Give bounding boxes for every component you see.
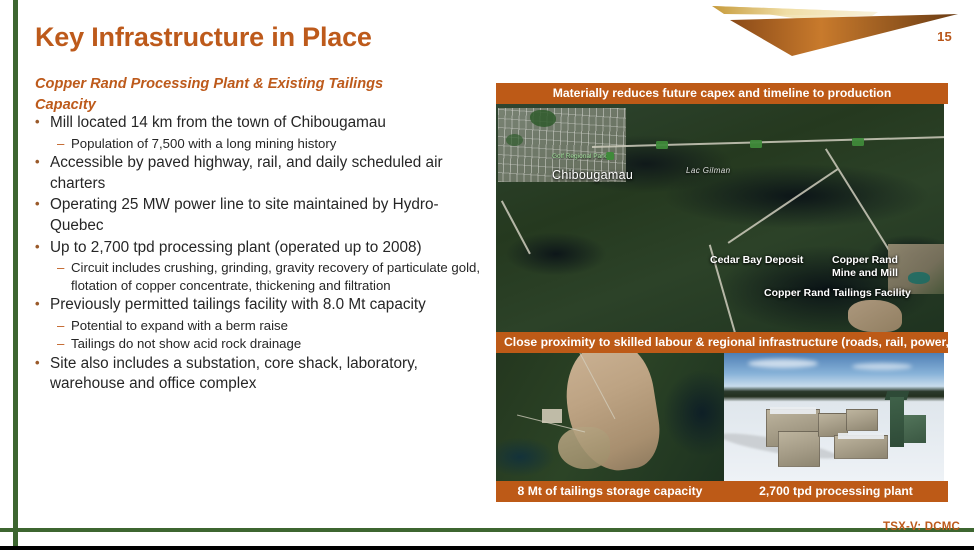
- bullet-text: Operating 25 MW power line to site maint…: [50, 195, 487, 236]
- bullet-marker-icon: •: [35, 354, 50, 373]
- map-mine-pond: [908, 272, 930, 284]
- chevron-icon: [700, 0, 966, 56]
- highway-shield-icon: [750, 140, 762, 148]
- plant-building-front: [778, 431, 820, 467]
- dash-marker-icon: –: [57, 317, 71, 334]
- cloud-shape: [748, 359, 818, 368]
- bullet-marker-icon: •: [35, 295, 50, 314]
- map-label-cedar-bay-deposit: Cedar Bay Deposit: [710, 254, 803, 267]
- ticker-symbol: TSX-V: DCMC: [883, 521, 960, 533]
- plant-conveyor-roof: [838, 433, 884, 439]
- highway-shield-icon: [852, 138, 864, 146]
- bullet-text: Site also includes a substation, core sh…: [50, 354, 487, 395]
- map-road-branch-2: [728, 168, 838, 243]
- dash-marker-icon: –: [57, 259, 71, 276]
- page-subtitle: Copper Rand Processing Plant & Existing …: [35, 74, 435, 115]
- mid-banner-caption: Close proximity to skilled labour & regi…: [496, 332, 948, 353]
- page-title: Key Infrastructure in Place: [35, 22, 372, 53]
- satellite-map: Golf Regional Park Chibougamau Lac Gilma…: [496, 104, 944, 332]
- photo-row: [496, 353, 944, 481]
- bullet-text: Up to 2,700 tpd processing plant (operat…: [50, 238, 487, 259]
- bullet-text: Potential to expand with a berm raise: [71, 317, 487, 334]
- map-tailings-area: [848, 300, 902, 332]
- brand-chevron-logo: [700, 0, 966, 56]
- map-town-green-space: [530, 110, 556, 127]
- bullet-marker-icon: •: [35, 238, 50, 257]
- bottom-edge-bar: [0, 546, 974, 550]
- dash-marker-icon: –: [57, 135, 71, 152]
- bullet-marker-icon: •: [35, 153, 50, 172]
- plant-building-main-roof: [770, 407, 816, 414]
- cloud-shape-2: [852, 363, 912, 370]
- map-town-green-space-2: [506, 134, 523, 146]
- left-accent-line: [13, 0, 18, 546]
- map-road-branch-4: [501, 200, 530, 254]
- map-label-copper-rand-mine-and-mill: Copper Rand Mine and Mill: [832, 254, 898, 280]
- map-label-copper-rand-line1: Copper Rand: [832, 254, 898, 267]
- footer-accent-line: [0, 528, 974, 532]
- bullet-text: Previously permitted tailings facility w…: [50, 295, 487, 316]
- map-label-city: Chibougamau: [552, 168, 633, 183]
- bullet-text: Mill located 14 km from the town of Chib…: [50, 113, 487, 134]
- processing-plant-photo: [724, 353, 944, 481]
- bottom-caption-row: 8 Mt of tailings storage capacity 2,700 …: [496, 481, 948, 502]
- caption-processing-plant: 2,700 tpd processing plant: [724, 481, 948, 502]
- plant-green-structure: [904, 415, 926, 443]
- bullet-marker-icon: •: [35, 195, 50, 214]
- sub-bullet-item: –Tailings do not show acid rock drainage: [35, 335, 487, 352]
- sub-bullet-item: –Population of 7,500 with a long mining …: [35, 135, 487, 152]
- bullet-marker-icon: •: [35, 113, 50, 132]
- tailings-plant-structure: [542, 409, 562, 423]
- page-number: 15: [937, 29, 952, 44]
- media-column: Materially reduces future capex and time…: [496, 83, 948, 513]
- bullet-item: •Up to 2,700 tpd processing plant (opera…: [35, 238, 487, 259]
- bullet-item: •Accessible by paved highway, rail, and …: [35, 153, 487, 194]
- tailings-deposit-shape-lower: [558, 427, 610, 469]
- top-banner-caption: Materially reduces future capex and time…: [496, 83, 948, 104]
- bullet-item: •Operating 25 MW power line to site main…: [35, 195, 487, 236]
- map-label-copper-rand-line2: Mine and Mill: [832, 267, 898, 280]
- bullet-list: •Mill located 14 km from the town of Chi…: [35, 113, 487, 396]
- caption-tailings-capacity: 8 Mt of tailings storage capacity: [496, 481, 724, 502]
- map-road-branch-1: [825, 148, 890, 251]
- plant-headframe: [890, 397, 904, 447]
- map-label-lake: Lac Gilman: [686, 166, 730, 176]
- bullet-item: •Site also includes a substation, core s…: [35, 354, 487, 395]
- plant-building-rear: [846, 409, 878, 431]
- bullet-item: •Mill located 14 km from the town of Chi…: [35, 113, 487, 134]
- dash-marker-icon: –: [57, 335, 71, 352]
- bullet-item: •Previously permitted tailings facility …: [35, 295, 487, 316]
- map-label-park: Golf Regional Park: [552, 153, 607, 161]
- park-marker-icon: [606, 152, 614, 160]
- bullet-text: Circuit includes crushing, grinding, gra…: [71, 259, 487, 294]
- sub-bullet-item: –Potential to expand with a berm raise: [35, 317, 487, 334]
- map-label-tailings-facility: Copper Rand Tailings Facility: [764, 287, 911, 300]
- tailings-facility-photo: [496, 353, 724, 481]
- map-highway: [592, 136, 944, 148]
- highway-shield-icon: [656, 141, 668, 149]
- bullet-text: Tailings do not show acid rock drainage: [71, 335, 487, 352]
- bullet-text: Accessible by paved highway, rail, and d…: [50, 153, 487, 194]
- sub-bullet-item: –Circuit includes crushing, grinding, gr…: [35, 259, 487, 294]
- bullet-text: Population of 7,500 with a long mining h…: [71, 135, 487, 152]
